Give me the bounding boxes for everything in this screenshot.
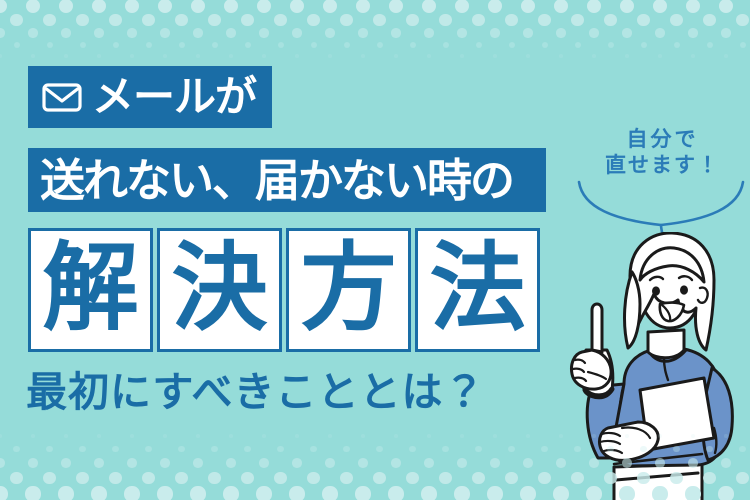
kanji-char: 決 [172,240,268,336]
dot [208,14,220,26]
dot [92,0,106,13]
dot [0,0,7,13]
hair-left-sweep [625,272,640,348]
dot [490,458,500,468]
dot [424,28,433,37]
dot [311,42,317,48]
dot [160,458,170,468]
dot [391,28,400,37]
skirt [614,464,702,500]
dot [310,446,316,452]
dot [109,14,121,26]
dot [388,486,403,500]
dot [508,446,514,452]
dot [688,28,697,37]
dot [157,486,172,500]
kanji-char: 方 [301,240,397,336]
dot [145,446,151,452]
dot [224,0,238,13]
dot [620,0,634,13]
dot [112,446,118,452]
dot [641,42,647,48]
dot [674,42,680,48]
dot [361,434,365,438]
dot [179,42,185,48]
dot [427,54,431,58]
dot [454,486,469,500]
dot [43,14,55,26]
dot [406,472,419,485]
dot [46,446,52,452]
dot [328,434,332,438]
dot [244,446,250,452]
dot [376,446,382,452]
dot [259,458,269,468]
dot [289,486,304,500]
dot [493,54,497,58]
dot [538,14,550,26]
dot [493,434,497,438]
dot [262,434,266,438]
callout-brace-icon [575,178,750,240]
dot [307,472,320,485]
dot [43,472,56,485]
dot [91,486,106,500]
dot [109,472,122,485]
dot [556,28,565,37]
dot [125,0,139,13]
dot [76,14,88,26]
dot [490,28,499,37]
dot [31,434,35,438]
callout: 自分で 直せます！ [575,126,750,236]
dot [389,0,403,13]
dot [655,28,664,37]
dot [10,472,23,485]
kanji-box: 決 [157,228,282,352]
dot [142,14,154,26]
dot [410,42,416,48]
dot [229,434,233,438]
woman-pointing-up-holding-document-illustration [552,232,750,500]
dot [64,54,68,58]
kanji-box: 法 [415,228,540,352]
dot [439,14,451,26]
dot [113,42,119,48]
dot [571,14,583,26]
dot [80,42,86,48]
dot [277,446,283,452]
dot [377,42,383,48]
dot [257,0,271,13]
dot [442,446,448,452]
dot [76,472,89,485]
dot [160,28,169,37]
dot [373,472,386,485]
headline-line-1-text: メールが [92,76,256,118]
dot [229,54,233,58]
dot [457,458,467,468]
neck [648,330,684,358]
headline-line-2: 送れない、届かない時の [28,148,546,212]
dot [421,486,436,500]
dot [460,434,464,438]
dot [241,472,254,485]
dot [124,486,139,500]
dot [457,28,466,37]
dot [523,458,533,468]
dot [604,14,616,26]
dot [292,458,302,468]
dot [394,54,398,58]
dot [472,472,485,485]
dot [97,54,101,58]
dot [559,54,563,58]
dot [325,458,335,468]
kanji-char: 法 [430,240,526,336]
dot [94,458,104,468]
dot [278,42,284,48]
dot [193,458,203,468]
dot [686,0,700,13]
dot [94,28,103,37]
dot [175,472,188,485]
dot [526,54,530,58]
dot [158,0,172,13]
dot [707,42,713,48]
dot [592,54,596,58]
dot [190,486,205,500]
dot [295,434,299,438]
dot [130,434,134,438]
dot [488,0,502,13]
dot [658,54,662,58]
dot [223,486,238,500]
dot [424,458,434,468]
dot [542,42,548,48]
dot [127,28,136,37]
dot [472,14,484,26]
dot [587,0,601,13]
dot [691,54,695,58]
dot [343,446,349,452]
dot [97,434,101,438]
banner: メールが 送れない、届かない時の 解 決 方 法 最初にすべきこととは？ 自分で… [0,0,750,500]
dot [292,28,301,37]
dot [142,472,155,485]
dot [256,486,271,500]
dot [460,54,464,58]
callout-line-1: 自分で [575,126,750,152]
dot [509,42,515,48]
dot [325,28,334,37]
dot [58,486,73,500]
dot [28,28,37,37]
dot [608,42,614,48]
kanji-box: 解 [28,228,153,352]
dot [443,42,449,48]
right-eye [680,285,688,294]
dot [538,472,551,485]
dot [344,42,350,48]
dot [455,0,469,13]
dot [193,28,202,37]
dot [295,54,299,58]
dot [290,0,304,13]
dot [28,458,38,468]
kanji-box: 方 [286,228,411,352]
dot [355,486,370,500]
kanji-box-row: 解 決 方 法 [28,228,540,352]
dot [241,14,253,26]
dot [175,14,187,26]
headline-line-1: メールが [28,66,272,128]
dot [439,472,452,485]
dot [719,0,733,13]
dot [703,14,715,26]
headline-line-2-text: 送れない、届かない時の [40,158,513,203]
dot [26,0,40,13]
dot [211,446,217,452]
dot [422,0,436,13]
sub-headline: 最初にすべきこととは？ [26,372,486,413]
dot [274,14,286,26]
dot [541,446,547,452]
dot [721,28,730,37]
dot [79,446,85,452]
index-finger [592,304,602,352]
dot [523,28,532,37]
dot [59,0,73,13]
dot [323,0,337,13]
dot [427,434,431,438]
dot [64,434,68,438]
dot [212,42,218,48]
dot [14,42,20,48]
dot [61,28,70,37]
dot [358,458,368,468]
dot [409,446,415,452]
dot [196,54,200,58]
dot [625,54,629,58]
dot [196,434,200,438]
dot [575,42,581,48]
dot [307,14,319,26]
dot [736,14,748,26]
dot [526,434,530,438]
left-eye [652,286,660,295]
callout-line-2: 直せます！ [575,152,750,178]
dot [475,446,481,452]
dot [191,0,205,13]
dot [0,28,5,37]
dot [340,14,352,26]
dot [622,28,631,37]
dot [487,486,502,500]
dot [47,42,53,48]
dot [127,458,137,468]
dot [361,54,365,58]
dot [10,14,22,26]
dot [13,446,19,452]
dot [0,486,8,500]
dot [61,458,71,468]
dot [356,0,370,13]
dot [262,54,266,58]
dot [724,54,728,58]
dot [245,42,251,48]
dot [31,54,35,58]
dot [322,486,337,500]
dot [226,458,236,468]
dot [406,14,418,26]
dot [178,446,184,452]
dot [637,14,649,26]
dot [328,54,332,58]
dot-pattern-top [0,0,750,60]
dot [146,42,152,48]
dot [373,14,385,26]
dot [521,0,535,13]
mail-envelope-icon [42,83,82,112]
dot [589,28,598,37]
dot [476,42,482,48]
dot [274,472,287,485]
dot [554,0,568,13]
dot [505,14,517,26]
dot [163,434,167,438]
dot [0,54,2,58]
dot [391,458,401,468]
dot [358,28,367,37]
dot [520,486,535,500]
dot [130,54,134,58]
dot [163,54,167,58]
dot [670,14,682,26]
kanji-char: 解 [43,240,139,336]
dot [394,434,398,438]
dot [0,458,5,468]
dot [208,472,221,485]
dot [740,42,746,48]
dot [226,28,235,37]
dot [25,486,40,500]
dot [340,472,353,485]
dot [653,0,667,13]
dot [0,434,2,438]
dot [505,472,518,485]
dot [259,28,268,37]
